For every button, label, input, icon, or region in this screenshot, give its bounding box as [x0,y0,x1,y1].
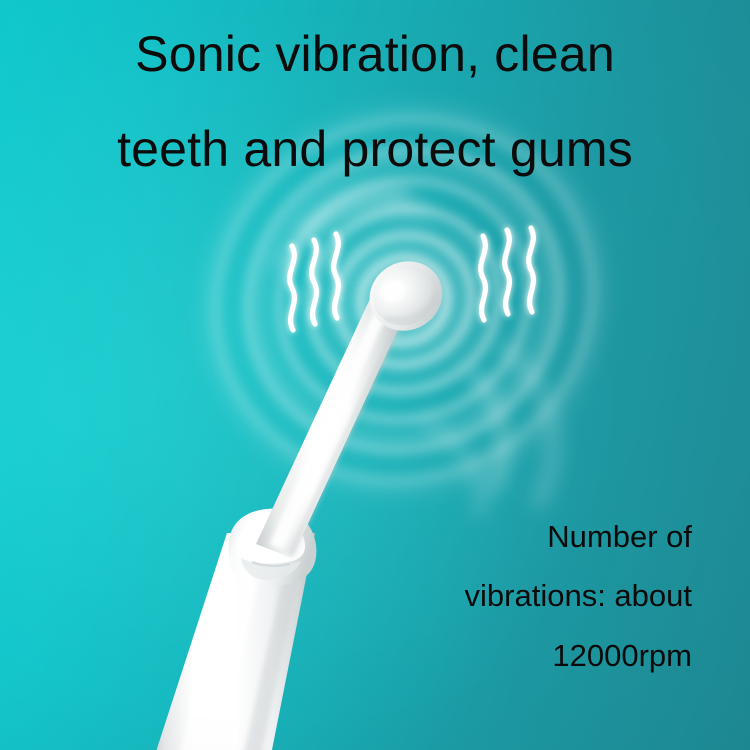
spec-caption-line-2: vibrations: about [465,580,692,611]
product-feature-banner: Sonic vibration, clean teeth and protect… [0,0,750,750]
headline-line-2: teeth and protect gums [0,124,750,174]
spec-caption-line-3: 12000rpm [552,640,692,671]
spec-caption-line-1: Number of [547,521,692,552]
headline-line-1: Sonic vibration, clean [0,29,750,79]
